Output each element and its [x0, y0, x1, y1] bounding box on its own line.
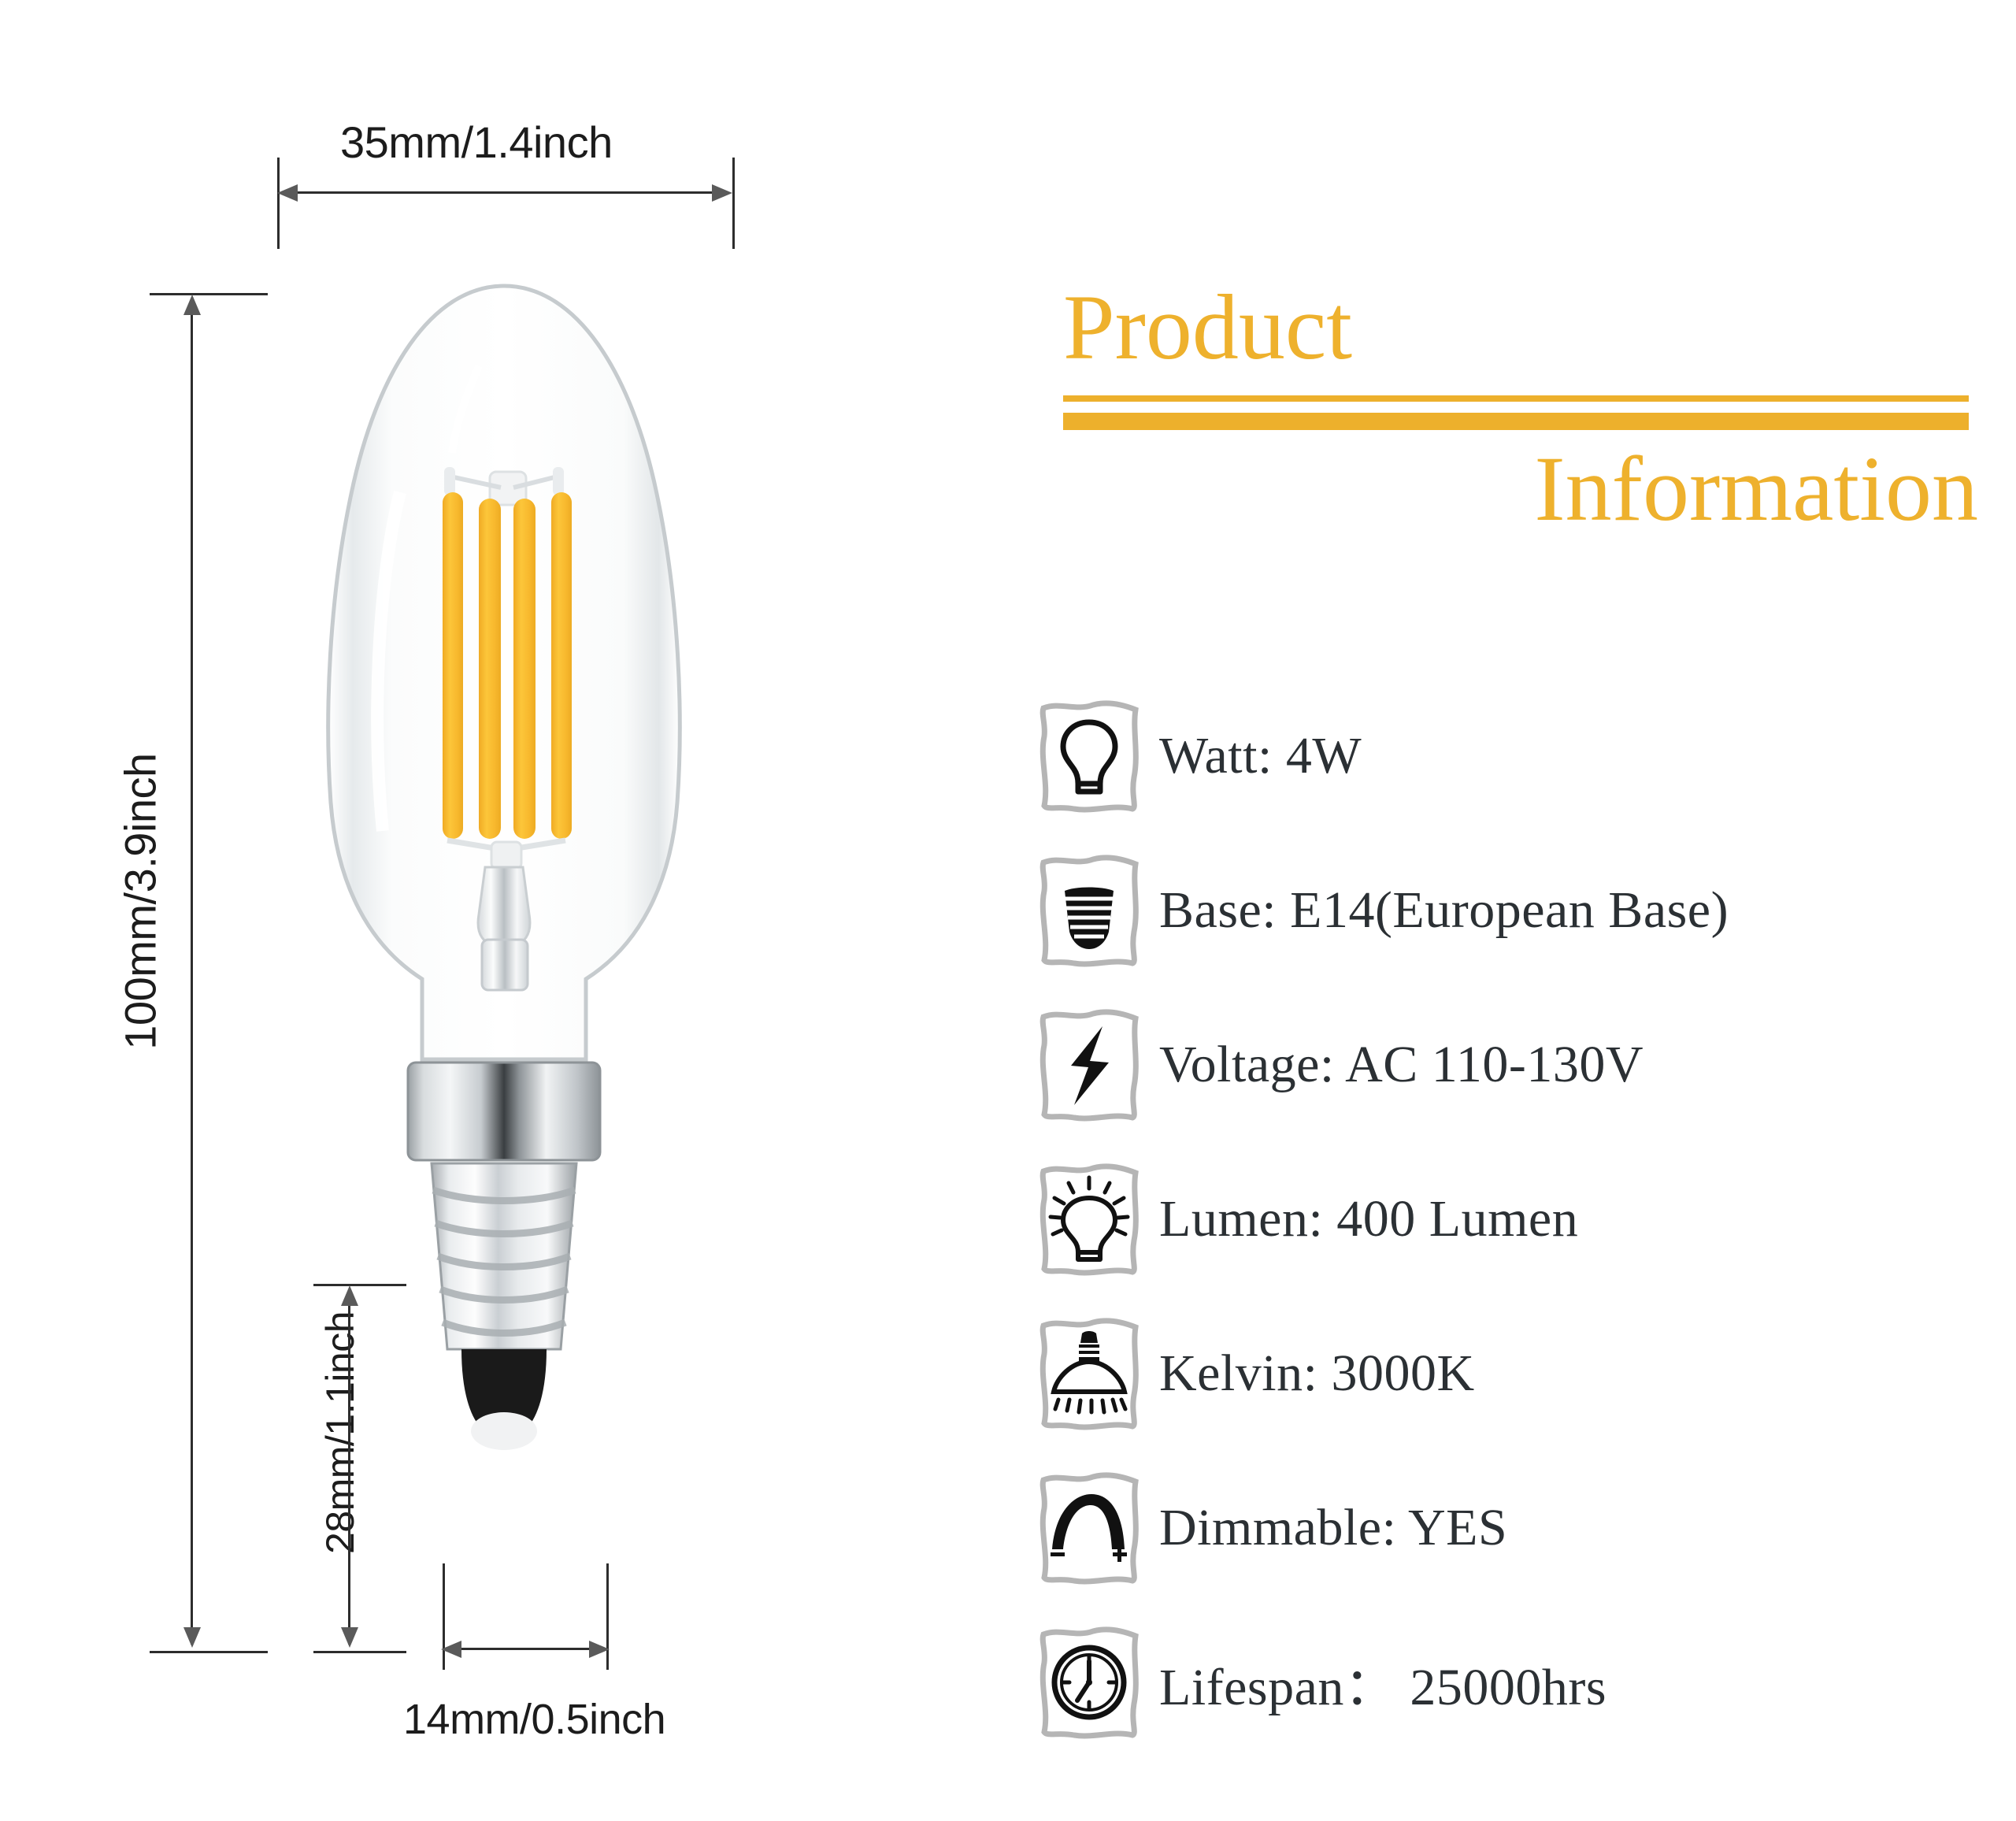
screw-base-icon	[1036, 853, 1142, 968]
spec-label-base: Base: E14(European Base)	[1159, 881, 1729, 940]
dimension-label-overall-height: 100mm/3.9inch	[115, 681, 166, 1122]
spec-list: Watt: 4W	[1030, 679, 2014, 1760]
page-title-line2: Information	[1047, 441, 1984, 538]
base-tip	[471, 1412, 537, 1450]
arrowhead-right-bulb-width	[712, 184, 732, 202]
dimension-line-overall-height	[191, 301, 193, 1645]
stem-neck	[482, 940, 528, 990]
arrowhead-bottom-overall-height	[183, 1627, 201, 1648]
title-rule-thick	[1063, 413, 1969, 430]
spec-label-voltage: Voltage: AC 110-130V	[1159, 1035, 1644, 1095]
spec-row-kelvin: Kelvin: 3000K	[1030, 1296, 2014, 1451]
arrowhead-left-bulb-width	[277, 184, 298, 202]
filament-3	[513, 499, 535, 839]
dimmer-icon	[1036, 1471, 1142, 1585]
glass-stem	[478, 867, 530, 948]
product-spec-sheet: 35mm/1.4inch 100mm/3.9inch 28mm/1.1inch …	[0, 0, 2016, 1821]
arrowhead-top-overall-height	[183, 295, 201, 315]
screw-thread-body	[432, 1163, 576, 1349]
spec-label-dimmable: Dimmable: YES	[1159, 1498, 1507, 1558]
product-information-panel: Product Information Watt: 4W	[1016, 0, 2016, 1821]
bulb-icon	[1036, 699, 1142, 814]
dimension-label-bulb-width: 35mm/1.4inch	[340, 117, 613, 168]
filament-4	[551, 492, 572, 839]
extension-line-left-top	[277, 158, 280, 249]
page-title-line1: Product	[1047, 280, 1984, 376]
lightning-icon	[1036, 1007, 1142, 1122]
bulb-dimension-drawing: 35mm/1.4inch 100mm/3.9inch 28mm/1.1inch …	[0, 0, 1016, 1821]
title-rule-thin	[1063, 395, 1969, 402]
extension-line-right-top	[732, 158, 735, 249]
extension-line-bottom-height	[150, 1651, 268, 1653]
spec-label-watt: Watt: 4W	[1159, 726, 1362, 786]
base-collar	[408, 1063, 600, 1160]
filament-2	[479, 499, 501, 839]
candle-bulb-illustration	[268, 280, 740, 1776]
spec-row-base: Base: E14(European Base)	[1030, 833, 2014, 988]
filament-1	[443, 492, 463, 839]
spec-row-voltage: Voltage: AC 110-130V	[1030, 988, 2014, 1142]
spec-row-watt: Watt: 4W	[1030, 679, 2014, 833]
extension-line-top-height	[150, 293, 268, 295]
spec-label-lumen: Lumen: 400 Lumen	[1159, 1189, 1578, 1249]
spec-label-kelvin: Kelvin: 3000K	[1159, 1344, 1475, 1404]
spec-row-lumen: Lumen: 400 Lumen	[1030, 1142, 2014, 1296]
spec-label-lifespan: Lifespan： 25000hrs	[1159, 1645, 1606, 1720]
downlight-icon	[1036, 1316, 1142, 1431]
panel-title-block: Product Information	[1047, 280, 1984, 537]
dimension-line-bulb-width	[283, 191, 726, 194]
clock-icon	[1036, 1625, 1142, 1740]
spec-row-dimmable: Dimmable: YES	[1030, 1451, 2014, 1605]
spec-row-lifespan: Lifespan： 25000hrs	[1030, 1605, 2014, 1760]
shining-bulb-icon	[1036, 1162, 1142, 1277]
